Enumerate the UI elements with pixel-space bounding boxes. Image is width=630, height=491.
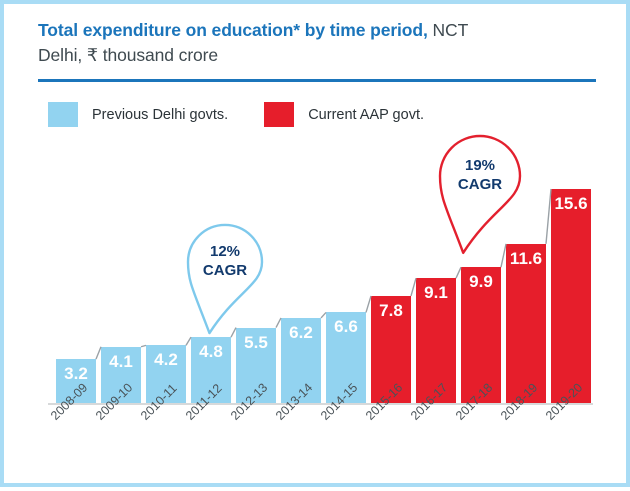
bar-value-label: 9.1 <box>416 283 456 303</box>
bar-value-label: 6.6 <box>326 317 366 337</box>
chart-card: Total expenditure on education* by time … <box>0 0 630 487</box>
callout-line2: CAGR <box>436 175 524 194</box>
chart-legend: Previous Delhi govts. Current AAP govt. <box>48 102 424 127</box>
bar-value-label: 3.2 <box>56 364 96 384</box>
callout-cagr-12: 12%CAGR <box>184 221 266 338</box>
callout-label-cagr-19: 19%CAGR <box>436 156 524 194</box>
title-plain-tail: NCT <box>428 20 468 40</box>
bar-value-label: 15.6 <box>551 194 591 214</box>
bar-value-label: 6.2 <box>281 323 321 343</box>
bar-value-label: 9.9 <box>461 272 501 292</box>
bar-value-label: 4.8 <box>191 342 231 362</box>
legend-swatch-current-aap-govt <box>264 102 294 127</box>
bar-value-label: 4.2 <box>146 350 186 370</box>
legend-swatch-previous-govts <box>48 102 78 127</box>
callout-line2: CAGR <box>184 261 266 280</box>
callout-cagr-19: 19%CAGR <box>436 132 524 258</box>
callout-line1: 19% <box>436 156 524 175</box>
bar-value-label: 4.1 <box>101 352 141 372</box>
title-strong: Total expenditure on education* by time … <box>38 20 428 40</box>
title-divider <box>38 79 596 82</box>
page-title: Total expenditure on education* by time … <box>38 18 598 68</box>
legend-label-previous-govts: Previous Delhi govts. <box>92 107 228 123</box>
title-line2: Delhi, ₹ thousand crore <box>38 43 598 68</box>
callout-label-cagr-12: 12%CAGR <box>184 242 266 280</box>
bar-2018-19[interactable]: 11.6 <box>506 244 546 403</box>
legend-label-current-aap-govt: Current AAP govt. <box>308 107 424 123</box>
legend-item-previous-govts: Previous Delhi govts. <box>48 102 228 127</box>
callout-shape-cagr-19 <box>436 132 524 258</box>
bar-value-label: 7.8 <box>371 301 411 321</box>
bar-2019-20[interactable]: 15.6 <box>551 189 591 403</box>
callout-line1: 12% <box>184 242 266 261</box>
bar-2017-18[interactable]: 9.9 <box>461 267 501 403</box>
legend-item-current-aap-govt: Current AAP govt. <box>264 102 424 127</box>
chart-title-block: Total expenditure on education* by time … <box>38 18 598 68</box>
